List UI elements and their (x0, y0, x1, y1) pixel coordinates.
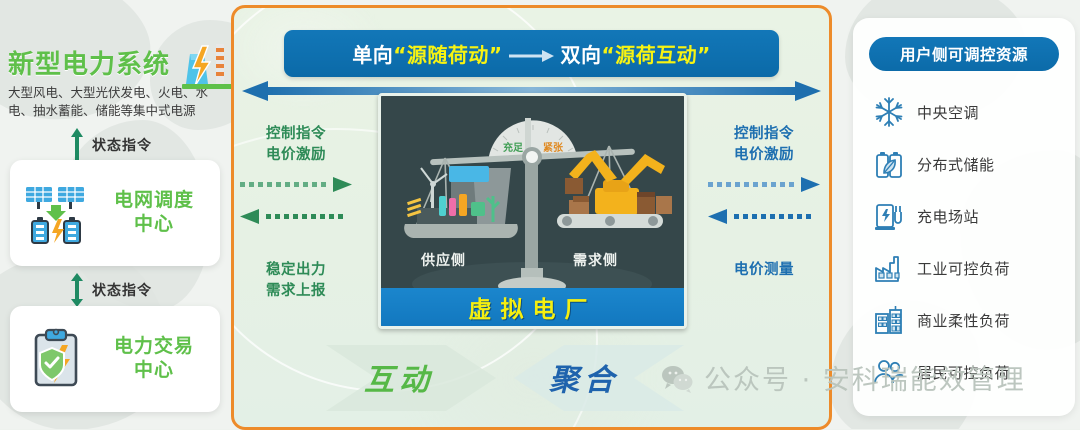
demand-side-label: 需求侧 (573, 250, 618, 270)
card-trade-line2: 中心 (98, 359, 210, 383)
ribbon-prefix: 单向 (352, 43, 393, 67)
card-grid-line2: 中心 (98, 213, 210, 237)
battery-leaf-icon (873, 148, 905, 180)
left-dashed-arrow-left (240, 208, 352, 230)
virtual-power-plant-label: 虚拟电厂 (469, 290, 597, 324)
resource-item-residential-load[interactable]: 居民可控负荷 (873, 346, 1063, 398)
card-power-trading-center-label: 电力交易 中心 (98, 335, 220, 382)
right-panel: 用户侧可调控资源 中央空调 分布式储能 (853, 18, 1075, 416)
resource-item-ev-charging-station[interactable]: 充电场站 (873, 190, 1063, 242)
ribbon-text: 单向“源随荷动” 双向“源荷互动” (352, 39, 711, 68)
left-dashed-arrow-right (240, 176, 352, 198)
office-building-icon (873, 304, 905, 336)
balance-illustration: 充足 紧张 (378, 93, 687, 329)
resource-item-industrial-load[interactable]: 工业可控负荷 (873, 242, 1063, 294)
supply-side-label: 供应侧 (421, 250, 466, 270)
resource-item-label: 工业可控负荷 (917, 258, 1010, 279)
up-down-arrow-icon (70, 273, 84, 307)
script-word-interaction: 互动 (364, 355, 434, 399)
right-dashed-arrow-right (708, 176, 820, 198)
solar-battery-icon (24, 181, 88, 245)
left-flow-out-line1: 控制指令 (240, 124, 352, 145)
resource-item-central-ac[interactable]: 中央空调 (873, 86, 1063, 138)
status-link-bottom: 状态指令 (70, 273, 152, 307)
adjustable-resource-list: 中央空调 分布式储能 充电场站 (873, 86, 1063, 398)
right-flow-out-line1: 控制指令 (708, 124, 820, 145)
left-flow-in-line1: 稳定出力 (240, 260, 352, 281)
ribbon-quote-1: “源随荷动” (393, 43, 502, 67)
status-link-top: 状态指令 (70, 128, 152, 162)
right-dashed-arrow-left (708, 208, 820, 230)
up-arrow-icon (70, 128, 84, 162)
left-flow-out-line2: 电价激励 (240, 145, 352, 166)
left-column: 新型电力系统 大型风电、大型光伏发电、火电、水电、抽水蓄能、储能等集中式电源 状… (0, 0, 228, 429)
left-flow-in-line2: 需求上报 (240, 281, 352, 302)
power-plant-icon (180, 40, 236, 92)
resource-item-label: 商业柔性负荷 (917, 310, 1010, 331)
right-panel-header: 用户侧可调控资源 (869, 37, 1059, 71)
center-panel: 单向“源随荷动” 双向“源荷互动” 控制指令 电价激励 (231, 5, 832, 430)
card-trade-line1: 电力交易 (98, 335, 210, 359)
ribbon-middle: 双向 (561, 43, 602, 67)
right-flow-column: 控制指令 电价激励 (708, 124, 820, 281)
resource-item-label: 居民可控负荷 (917, 362, 1010, 383)
resource-item-label: 充电场站 (917, 206, 979, 227)
resource-item-distributed-storage[interactable]: 分布式储能 (873, 138, 1063, 190)
right-panel-header-label: 用户侧可调控资源 (900, 43, 1028, 65)
script-word-aggregation: 聚合 (549, 355, 619, 399)
ev-charger-icon (873, 200, 905, 232)
snowflake-icon (873, 96, 905, 128)
card-grid-dispatch-center[interactable]: 电网调度 中心 (10, 160, 220, 266)
right-flow-in-line1: 电价测量 (708, 260, 820, 281)
virtual-power-plant-banner: 虚拟电厂 (381, 288, 684, 326)
right-arrow-icon (509, 50, 555, 62)
status-link-bottom-label: 状态指令 (92, 280, 152, 300)
center-ribbon-banner: 单向“源随荷动” 双向“源荷互动” (284, 30, 779, 77)
people-icon (873, 356, 905, 388)
status-link-top-label: 状态指令 (92, 135, 152, 155)
brand-block: 新型电力系统 大型风电、大型光伏发电、火电、水电、抽水蓄能、储能等集中式电源 (8, 52, 228, 120)
card-power-trading-center[interactable]: 电力交易 中心 (10, 306, 220, 412)
svg-text:充足: 充足 (503, 141, 524, 154)
card-grid-line1: 电网调度 (98, 189, 210, 213)
clipboard-shield-bolt-icon (24, 327, 88, 391)
resource-item-label: 分布式储能 (917, 154, 995, 175)
right-flow-out-line2: 电价激励 (708, 145, 820, 166)
ribbon-quote-2: “源荷互动” (602, 43, 711, 67)
card-grid-dispatch-center-label: 电网调度 中心 (98, 189, 220, 236)
resource-item-commercial-load[interactable]: 商业柔性负荷 (873, 294, 1063, 346)
factory-icon (873, 252, 905, 284)
resource-item-label: 中央空调 (917, 102, 979, 123)
svg-text:紧张: 紧张 (543, 141, 564, 154)
left-flow-column: 控制指令 电价激励 (240, 124, 352, 302)
